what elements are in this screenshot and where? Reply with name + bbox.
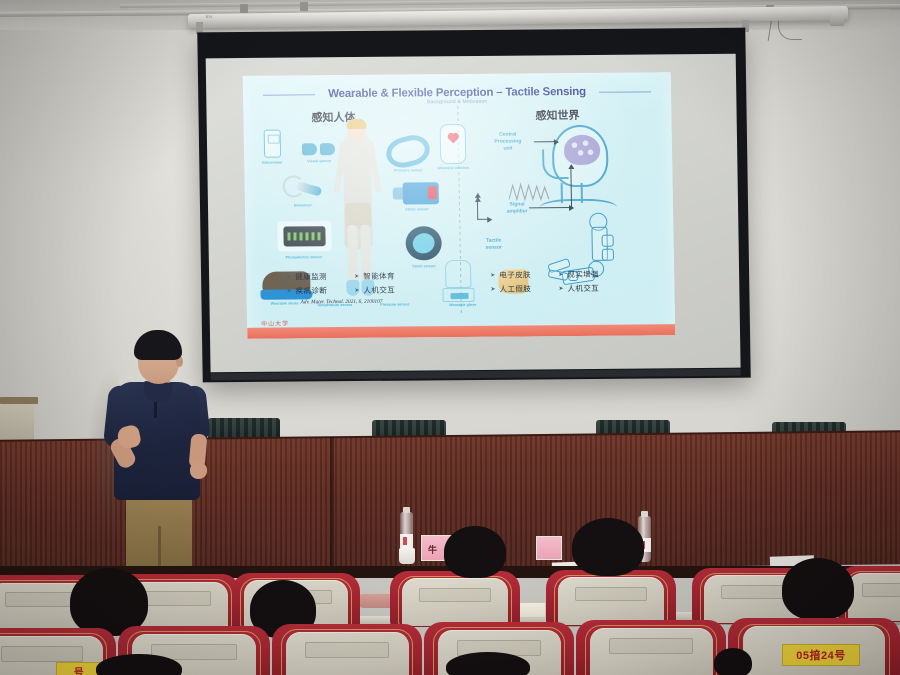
bullet-text: 健康监测 (295, 271, 327, 282)
bullet-text: 人机交互 (363, 285, 395, 296)
strain-sensor-device-icon (393, 182, 439, 204)
arrow-tactile-base (477, 219, 491, 221)
name-card (536, 536, 562, 560)
roller-end-cap (830, 9, 844, 26)
glucometer-icon (264, 130, 281, 158)
sensor-label-visual: Visual sensor (297, 159, 341, 164)
lecture-hall-scene: EN Wearable & Flexible Perception – Tact… (0, 0, 900, 675)
conduit-clamp (300, 2, 308, 11)
biosensor-icon (282, 175, 322, 199)
sensor-label-biosensor: Biosensor (281, 203, 325, 208)
sensor-label-strain-upper: Strain sensor (395, 207, 439, 212)
wall-shadow-right (730, 26, 900, 486)
paper-cup[interactable] (399, 548, 415, 564)
visual-sensor-glasses-icon (302, 143, 336, 156)
label-cpu-line1: Central (482, 131, 534, 138)
slide-footer-logo: 中山大学 (261, 318, 289, 327)
podium-panel-seam (330, 437, 334, 569)
wearable-glove-icon (442, 260, 475, 302)
label-amplifier-line2: amplifier (491, 208, 543, 215)
signal-waveform-icon (509, 181, 551, 201)
audience-head (572, 518, 644, 576)
name-card-char: 牛 (428, 543, 437, 556)
projected-slide: Wearable & Flexible Perception – Tactile… (243, 72, 676, 339)
label-tactile-line2: sensor (468, 244, 520, 251)
sensor-label-watches: Wearable watches (431, 166, 475, 171)
roller-brand-label: EN (206, 14, 212, 19)
seat[interactable] (272, 624, 422, 675)
arrow-cpu-to-brain (534, 141, 558, 143)
right-bullets-col2: ➤现实增强 ➤人机交互 (558, 269, 599, 297)
seat[interactable] (390, 571, 520, 627)
bullet-marker: ➤ (354, 287, 359, 294)
figure-hair (346, 119, 366, 129)
audience-head (782, 558, 854, 620)
sensor-label-strain-lower: Strain sensor (402, 264, 446, 269)
right-panel-heading: 感知世界 (535, 107, 579, 123)
seat-number-tag: 05揞24号 (782, 644, 860, 666)
sensor-label-glove: Wearable glove (441, 303, 485, 308)
bullet-marker: ➤ (286, 273, 291, 280)
wearable-watch-icon (440, 124, 467, 164)
label-cpu-line3: unit (482, 145, 534, 152)
speaker-hair (134, 330, 182, 360)
label-tactile-line1: Tactile (468, 237, 520, 244)
bullet-marker: ➤ (490, 272, 495, 279)
brain-icon (564, 135, 601, 165)
bullet-marker: ➤ (490, 286, 495, 293)
speaker-person (96, 330, 226, 580)
bullet-text: 智能体育 (363, 271, 395, 282)
sensor-label-photoelectric: Photoelectric sensor (282, 255, 326, 260)
right-bullets-col1: ➤电子皮肤 ➤人工假肢 (490, 269, 531, 297)
audience-head (446, 652, 530, 675)
bullet-text: 人工假肢 (499, 283, 531, 294)
bullet-marker: ➤ (354, 273, 359, 280)
bullet-text: 疾病诊断 (295, 285, 327, 296)
bullet-marker: ➤ (558, 271, 563, 278)
conduit-clamp (240, 4, 248, 13)
left-bullets-col1: ➤健康监测 ➤疾病诊断 (286, 271, 327, 299)
sensor-label-pressure-upper: Pressure sensor (386, 168, 430, 173)
audience-head (444, 526, 506, 578)
seat[interactable] (546, 570, 676, 626)
bullet-text: 人机交互 (567, 283, 599, 294)
audience-head (714, 648, 752, 675)
pressure-sensor-band-icon (386, 136, 431, 166)
arrow-tactile-head (477, 198, 479, 206)
sensor-label-glucometer: Glucometer (250, 160, 294, 165)
left-bullets-col2: ➤智能体育 ➤人机交互 (354, 271, 395, 299)
speaker-hand-right (190, 462, 207, 479)
bullet-marker: ➤ (286, 287, 291, 294)
bullet-marker: ➤ (558, 285, 563, 292)
label-cpu-line2: Processing (482, 138, 534, 145)
seat-row05-no24[interactable]: 05揞24号 (728, 618, 900, 675)
slide-citation: Adv. Mater. Technol. 2021, 6, 2100107 (301, 299, 383, 306)
bullet-text: 现实增强 (567, 269, 599, 280)
wall-mounted-board (0, 403, 34, 443)
seat[interactable] (576, 620, 726, 675)
strain-sensor-gel-icon (405, 226, 442, 260)
bullet-text: 电子皮肤 (499, 269, 531, 280)
photoelectric-sensor-icon (277, 221, 332, 251)
